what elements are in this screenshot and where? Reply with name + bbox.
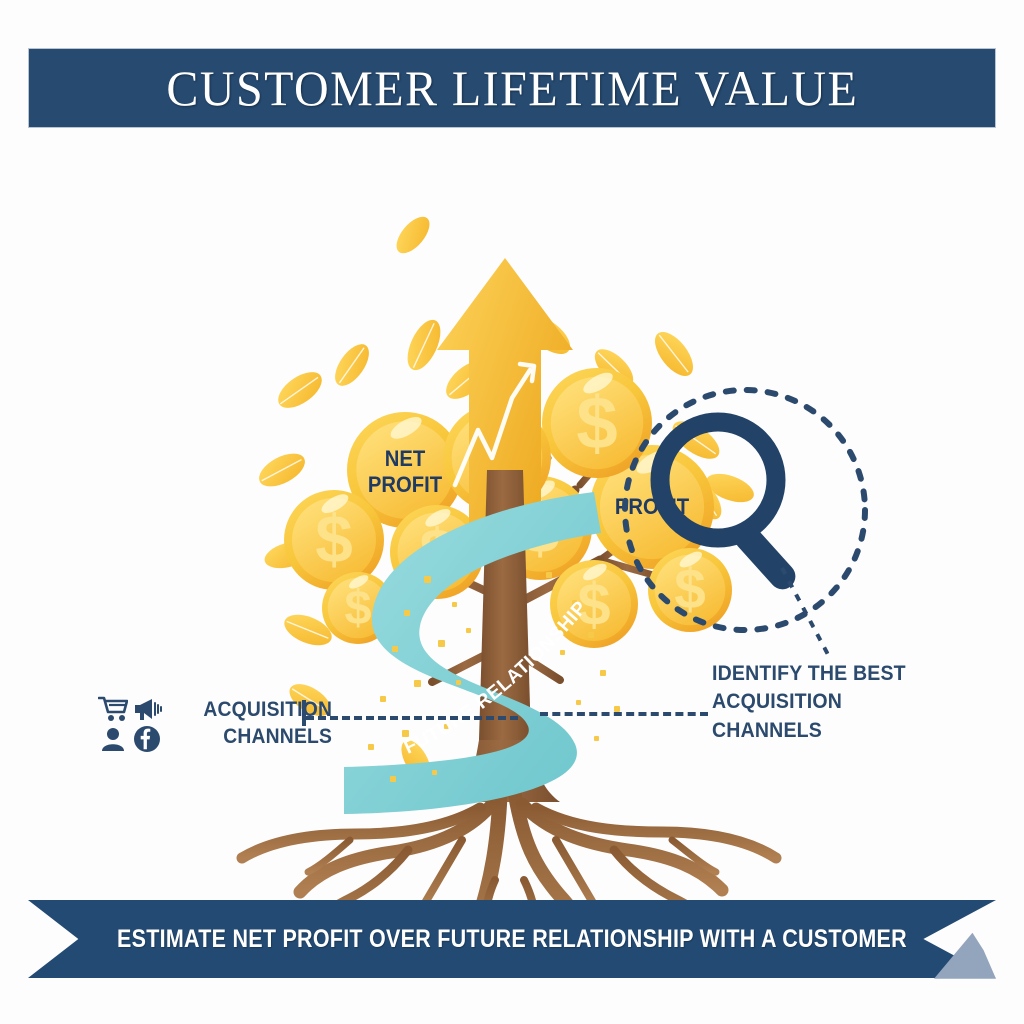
magnifying-glass[interactable] xyxy=(625,390,865,630)
infographic-canvas: CUSTOMER LIFETIME VALUE xyxy=(0,0,1024,1024)
facebook-icon xyxy=(133,725,161,753)
tree-roots xyxy=(242,795,776,900)
right-connector-line xyxy=(540,712,708,716)
callout-acquisition-channels[interactable]: ACQUISITION CHANNELS xyxy=(96,694,346,754)
coin-dollar-glyph: $ xyxy=(344,581,371,635)
coin-label-line2: PROFIT xyxy=(368,473,442,497)
coin-label: NET xyxy=(385,447,426,471)
coin-dollar-7: $ xyxy=(648,548,732,632)
acquisition-channel-icons xyxy=(96,694,164,754)
page-title: CUSTOMER LIFETIME VALUE xyxy=(166,59,858,117)
footer-banner: ESTIMATE NET PROFIT OVER FUTURE RELATION… xyxy=(28,900,996,978)
megaphone-icon xyxy=(132,696,162,722)
coin-dollar-glyph: $ xyxy=(315,503,353,578)
coin-dollar-glyph: $ xyxy=(576,382,617,465)
cart-icon xyxy=(98,696,128,722)
header-banner: CUSTOMER LIFETIME VALUE xyxy=(28,48,996,128)
left-callout-label: ACQUISITION CHANNELS xyxy=(172,694,332,751)
callout-identify-best-channels[interactable]: IDENTIFY THE BEST ACQUISITION CHANNELS xyxy=(712,660,954,745)
footer-tagline: ESTIMATE NET PROFIT OVER FUTURE RELATION… xyxy=(96,900,928,978)
user-icon xyxy=(99,726,127,752)
money-tree-illustration: NETPROFITPROFIT$$$$$$$$ xyxy=(0,140,1024,900)
